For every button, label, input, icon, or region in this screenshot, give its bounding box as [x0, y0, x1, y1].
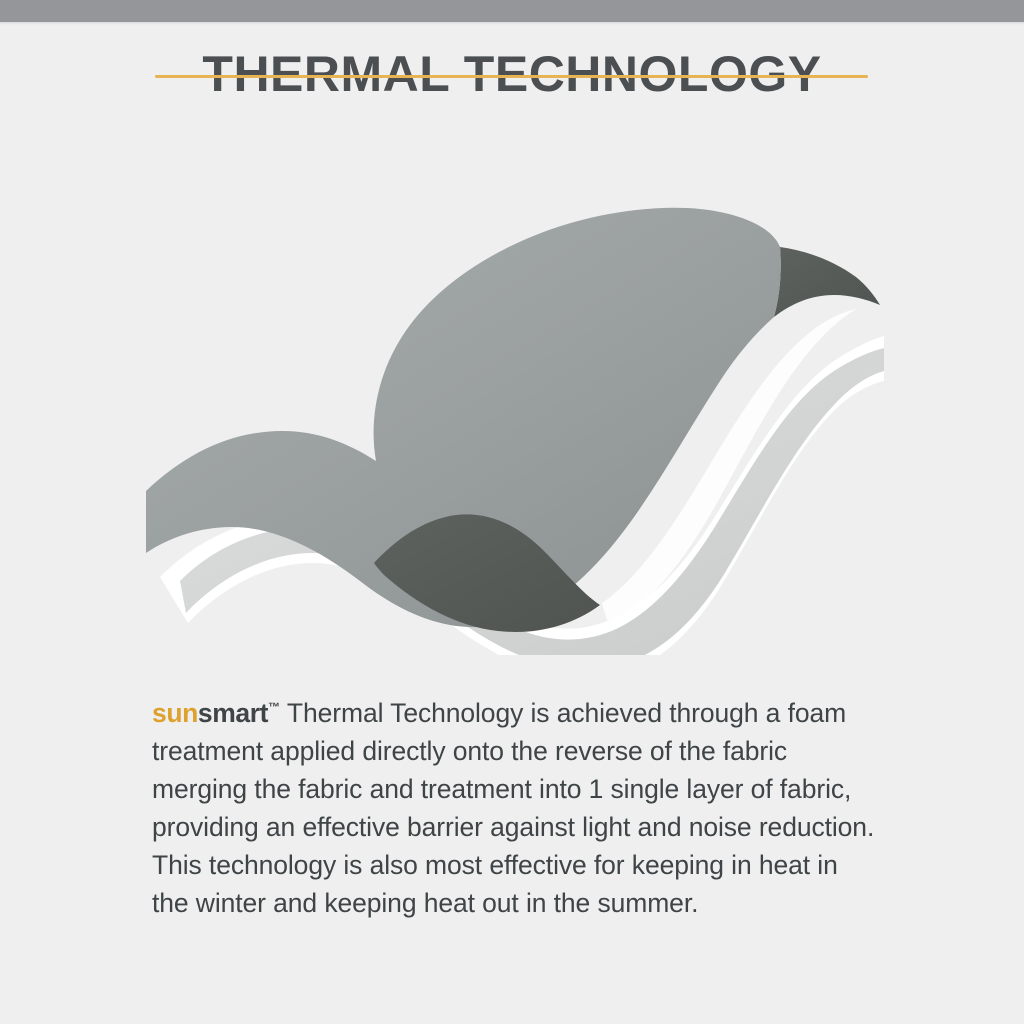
brand-smart-text: smart	[198, 698, 268, 728]
top-gray-band	[0, 0, 1024, 22]
brand-sun-text: sun	[152, 698, 198, 728]
header: THERMAL TECHNOLOGY	[0, 44, 1024, 104]
fold-underside-corner	[774, 247, 880, 317]
fabric-illustration	[140, 185, 884, 655]
description-text: Thermal Technology is achieved through a…	[152, 698, 874, 918]
product-feature-page: THERMAL TECHNOLOGY	[0, 0, 1024, 1024]
brand-logotype: sunsmart™	[152, 698, 280, 728]
trademark-icon: ™	[268, 700, 280, 714]
body-copy: sunsmart™ Thermal Technology is achieved…	[152, 688, 876, 922]
top-band-shadow	[0, 22, 1024, 25]
page-title: THERMAL TECHNOLOGY	[0, 44, 1024, 104]
title-accent-rule	[155, 75, 868, 78]
description-paragraph: sunsmart™ Thermal Technology is achieved…	[152, 688, 876, 922]
